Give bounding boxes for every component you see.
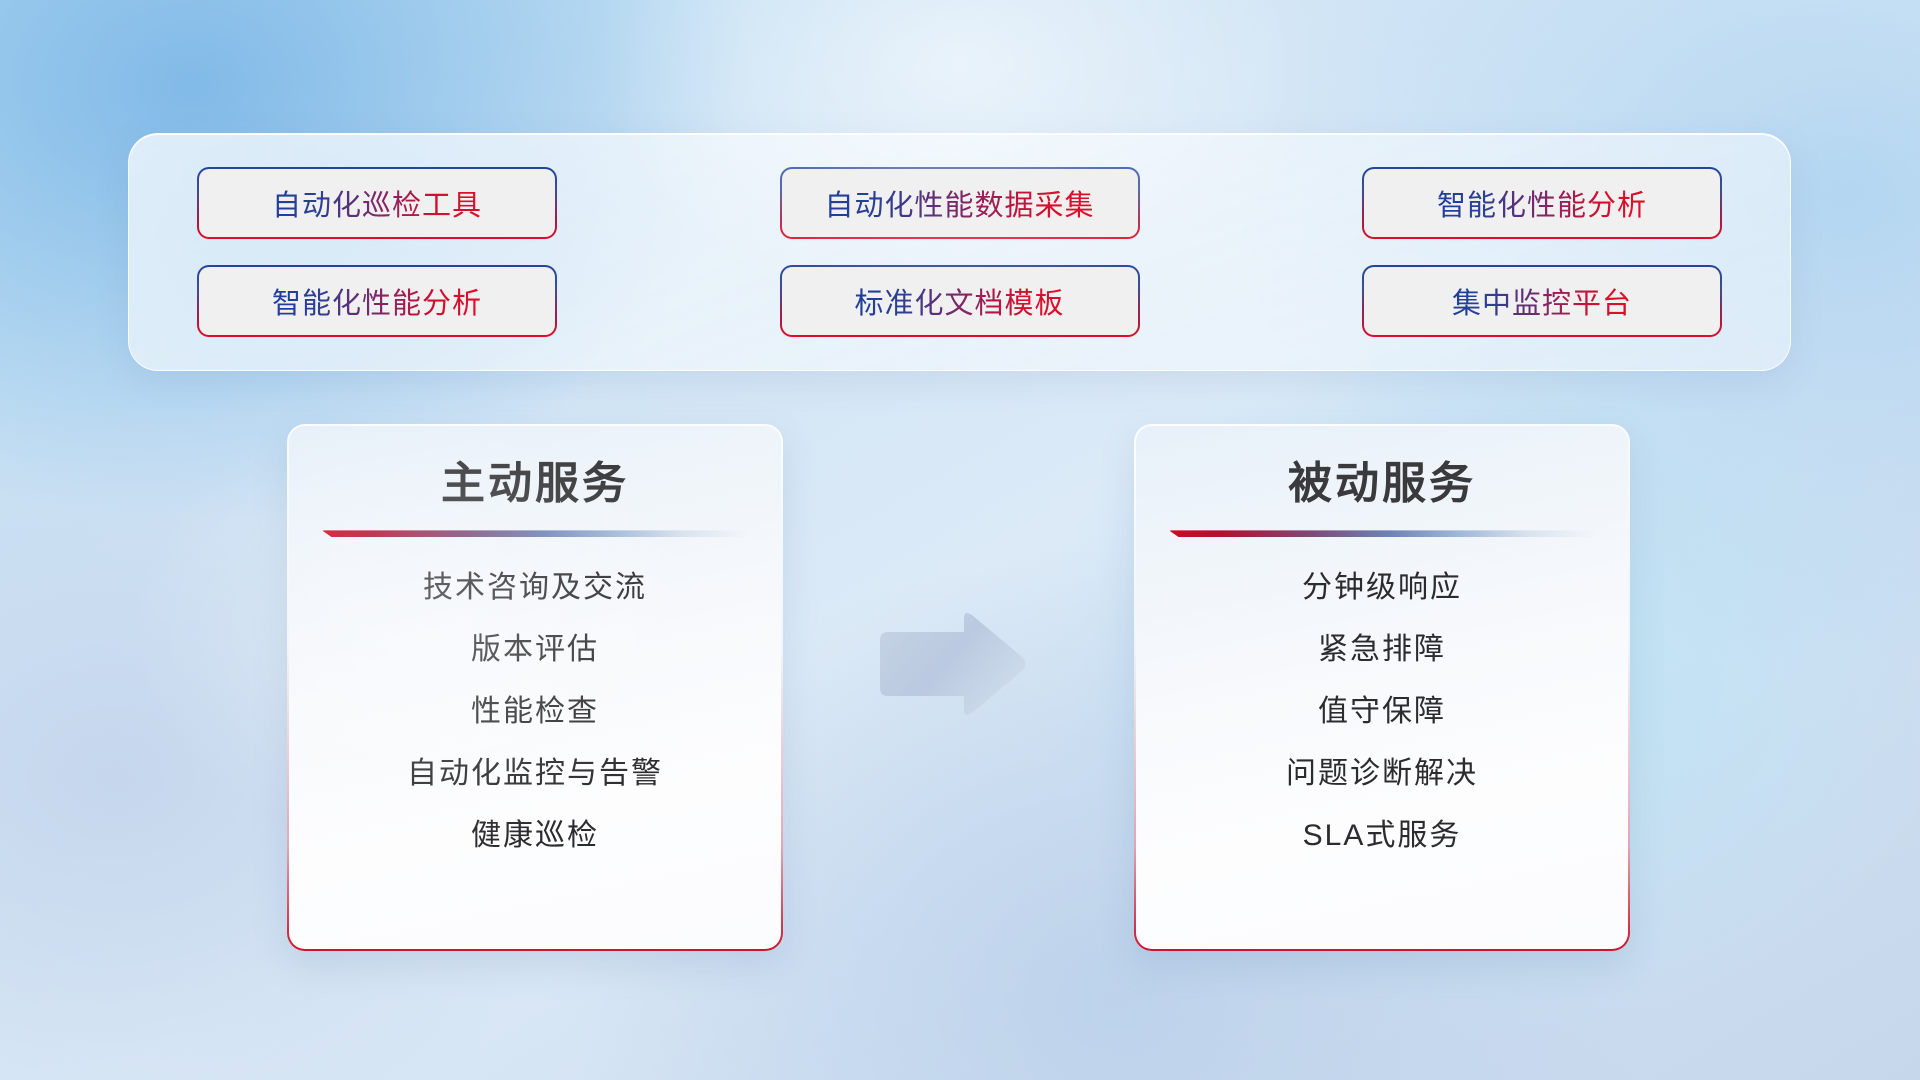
list-item: 性能检查 [471, 691, 599, 733]
list-item: 自动化监控与告警 [407, 753, 663, 795]
list-item: 问题诊断解决 [1286, 753, 1478, 795]
arrow-right-icon [872, 610, 1027, 718]
capability-pill-intelligent-performance-analysis[interactable]: 智能化性能分析 [1364, 169, 1720, 237]
service-card-passive-list: 分钟级响应 紧急排障 值守保障 问题诊断解决 SLA式服务 [1136, 567, 1628, 857]
capability-pill-label: 标准化文档模板 [854, 280, 1064, 322]
capability-pill-label: 自动化性能数据采集 [824, 182, 1094, 224]
capability-pill-label: 智能化性能分析 [1437, 182, 1647, 224]
list-item: 版本评估 [471, 629, 599, 671]
list-item: 紧急排障 [1318, 629, 1446, 671]
capability-pill-auto-inspection-tool[interactable]: 自动化巡检工具 [199, 169, 555, 237]
title-underline-accent [1169, 530, 1595, 537]
service-card-active-body: 主动服务 技术咨询及交流 版本评估 性能检查 自动化监控与告警 健康巡检 [289, 426, 781, 949]
capability-pill-standard-doc-template[interactable]: 标准化文档模板 [782, 267, 1138, 335]
slide-canvas: 自动化巡检工具 自动化性能数据采集 智能化性能分析 智能化性能分析 标准化文档模… [0, 0, 1920, 1080]
service-card-active-title: 主动服务 [441, 460, 629, 508]
service-card-passive-body: 被动服务 分钟级响应 紧急排障 值守保障 问题诊断解决 SLA式服务 [1136, 426, 1628, 949]
service-card-passive-title: 被动服务 [1288, 460, 1476, 508]
service-card-active-list: 技术咨询及交流 版本评估 性能检查 自动化监控与告警 健康巡检 [289, 567, 781, 857]
list-item: 健康巡检 [471, 815, 599, 857]
capability-row-1: 自动化巡检工具 自动化性能数据采集 智能化性能分析 [199, 169, 1720, 237]
list-item: 技术咨询及交流 [423, 567, 647, 609]
capability-pill-label: 集中监控平台 [1452, 280, 1632, 322]
capability-panel: 自动化巡检工具 自动化性能数据采集 智能化性能分析 智能化性能分析 标准化文档模… [128, 133, 1791, 371]
list-item: 值守保障 [1318, 691, 1446, 733]
capability-pill-label: 智能化性能分析 [272, 280, 482, 322]
service-card-passive[interactable]: 被动服务 分钟级响应 紧急排障 值守保障 问题诊断解决 SLA式服务 [1134, 424, 1630, 951]
capability-pill-auto-performance-collection[interactable]: 自动化性能数据采集 [782, 169, 1138, 237]
capability-row-2: 智能化性能分析 标准化文档模板 集中监控平台 [199, 267, 1720, 335]
list-item: SLA式服务 [1303, 815, 1462, 857]
list-item: 分钟级响应 [1302, 567, 1462, 609]
title-underline-accent [322, 530, 748, 537]
capability-pill-intelligent-performance-analysis-2[interactable]: 智能化性能分析 [199, 267, 555, 335]
capability-pill-label: 自动化巡检工具 [272, 182, 482, 224]
service-card-active[interactable]: 主动服务 技术咨询及交流 版本评估 性能检查 自动化监控与告警 健康巡检 [287, 424, 783, 951]
capability-pill-central-monitoring-platform[interactable]: 集中监控平台 [1364, 267, 1720, 335]
